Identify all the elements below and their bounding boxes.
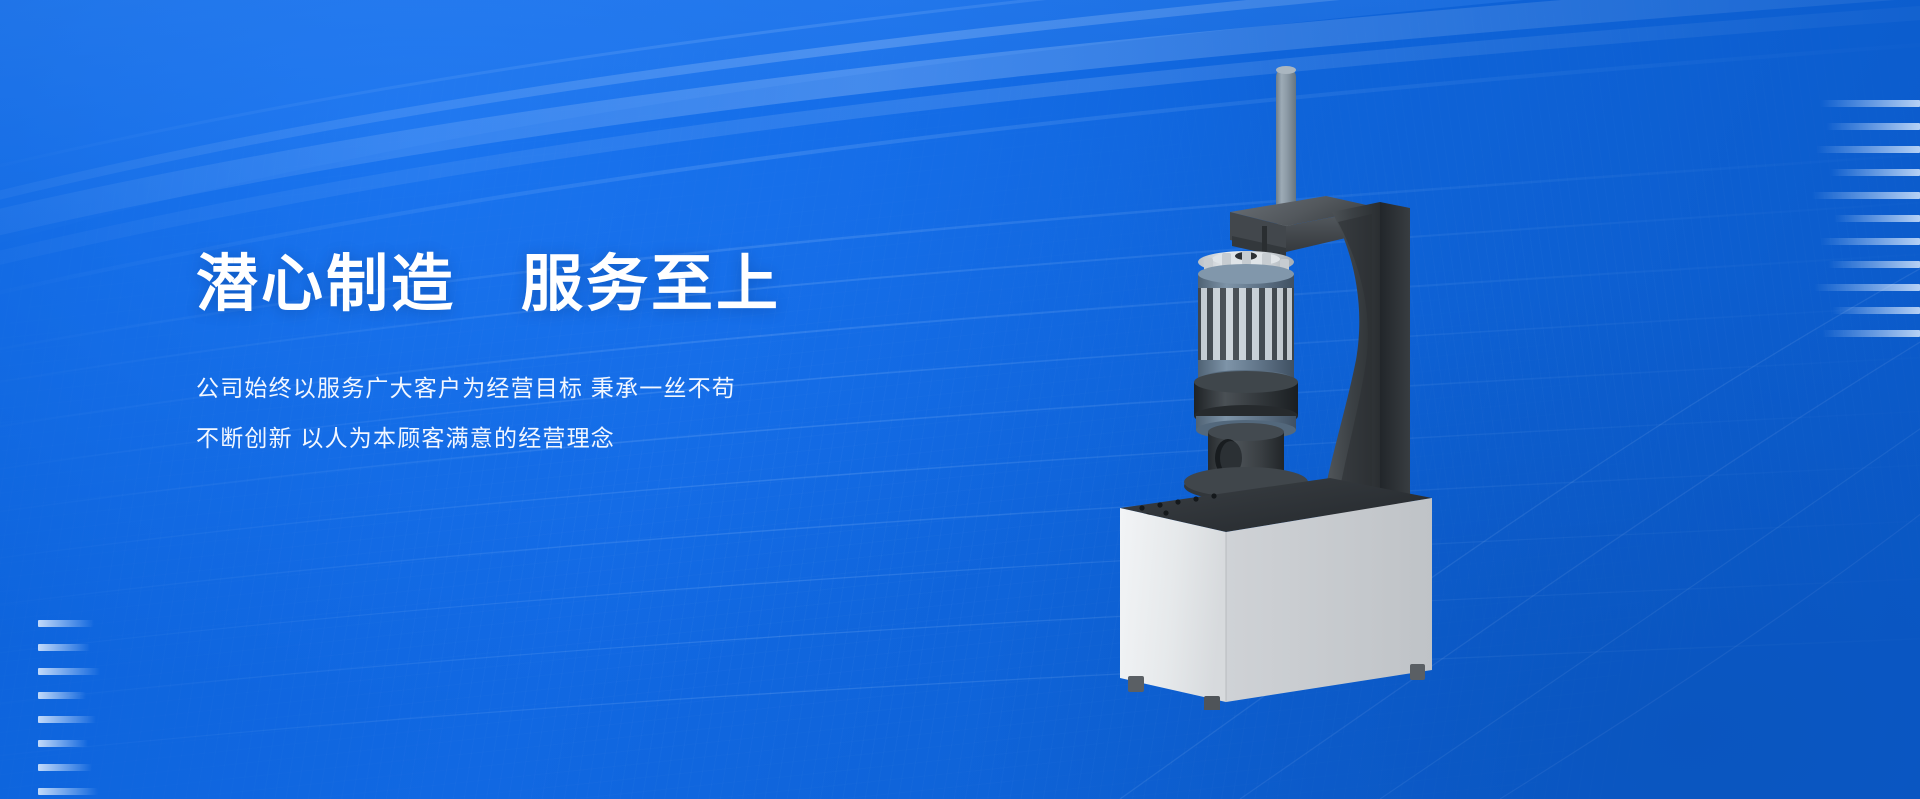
decor-bar <box>1812 192 1920 199</box>
decor-bar <box>1820 100 1920 107</box>
hero-banner: 潜心制造 服务至上 公司始终以服务广大客户为经营目标 秉承一丝不苟 不断创新 以… <box>0 0 1920 799</box>
decor-bar <box>38 788 98 795</box>
decor-bar <box>38 764 92 771</box>
decor-bar <box>1822 330 1920 337</box>
decor-bar <box>1832 307 1920 314</box>
decor-bar <box>1830 169 1920 176</box>
decor-bar <box>38 644 90 651</box>
decor-bar <box>38 692 86 699</box>
decor-bar <box>38 620 94 627</box>
decor-bar <box>38 668 100 675</box>
decor-bar <box>38 716 96 723</box>
decor-bars-left <box>38 620 156 799</box>
banner-subtitle-line-2: 不断创新 以人为本顾客满意的经营理念 <box>196 421 1096 457</box>
decor-bar <box>1828 261 1920 268</box>
decor-bar <box>1814 284 1920 291</box>
banner-subtitle-line-1: 公司始终以服务广大客户为经营目标 秉承一丝不苟 <box>196 371 1096 407</box>
banner-copy: 潜心制造 服务至上 公司始终以服务广大客户为经营目标 秉承一丝不苟 不断创新 以… <box>196 248 1096 456</box>
banner-subtitle: 公司始终以服务广大客户为经营目标 秉承一丝不苟 不断创新 以人为本顾客满意的经营… <box>196 371 1096 456</box>
decor-bar <box>1820 238 1920 245</box>
decor-bar <box>1816 146 1920 153</box>
banner-headline: 潜心制造 服务至上 <box>196 248 1096 321</box>
decor-bar <box>1834 215 1920 222</box>
decor-bars-right <box>1810 100 1920 337</box>
decor-bar <box>1826 123 1920 130</box>
product-image-industrial-press <box>1080 30 1500 710</box>
decor-bar <box>38 740 88 747</box>
